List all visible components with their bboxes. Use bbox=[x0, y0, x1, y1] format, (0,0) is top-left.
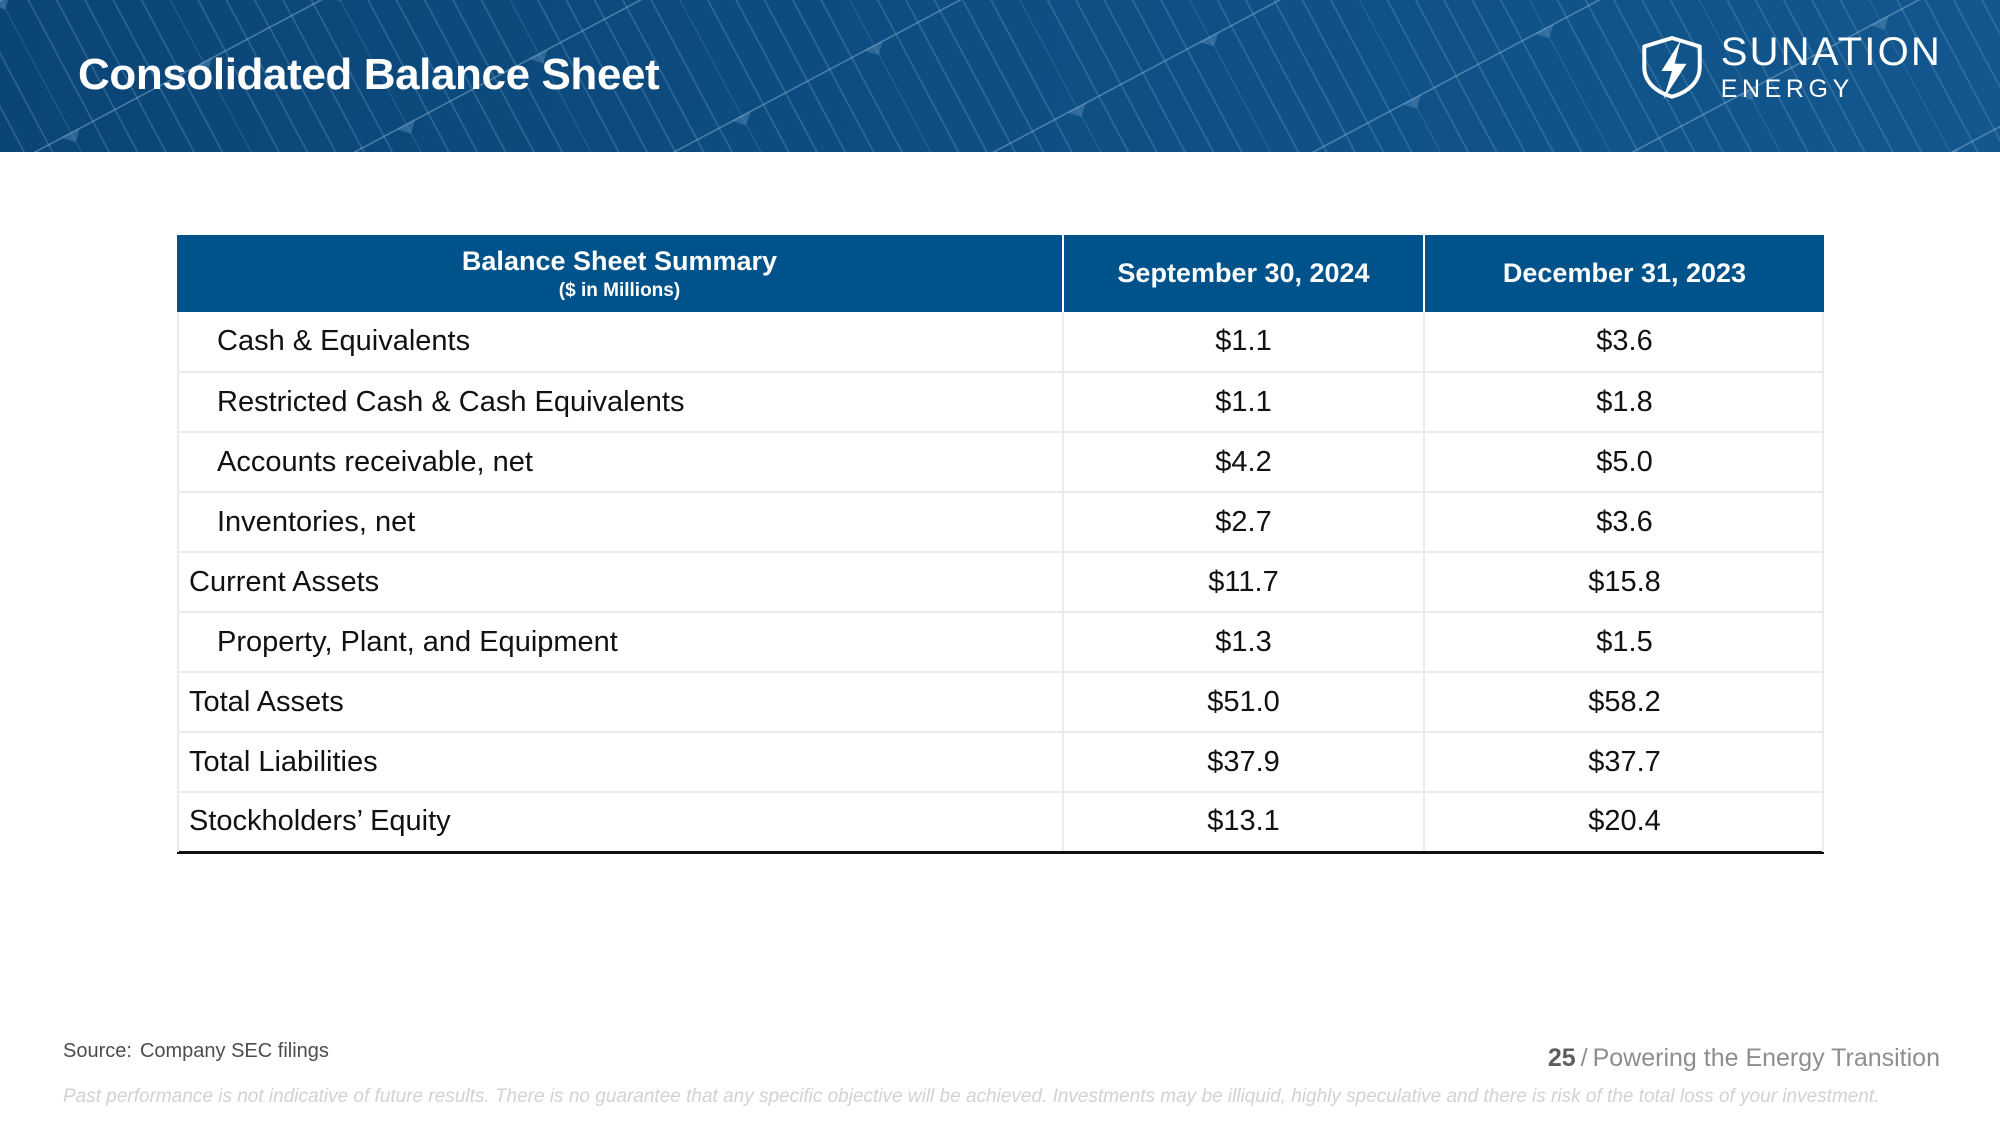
logo-word-energy: ENERGY bbox=[1721, 77, 1942, 102]
source-label: Source: bbox=[63, 1040, 132, 1062]
source-note: Source:Company SEC filings bbox=[63, 1040, 329, 1063]
table-row: Accounts receivable, net$4.2$5.0 bbox=[177, 432, 1824, 492]
row-label: Restricted Cash & Cash Equivalents bbox=[177, 372, 1063, 432]
row-value-period-2: $20.4 bbox=[1424, 792, 1824, 852]
row-value-period-2: $37.7 bbox=[1424, 732, 1824, 792]
logo-word-sunation: SUNATION bbox=[1721, 32, 1942, 72]
row-label: Accounts receivable, net bbox=[177, 432, 1063, 492]
row-value-period-1: $13.1 bbox=[1063, 792, 1424, 852]
row-value-period-2: $5.0 bbox=[1424, 432, 1824, 492]
row-value-period-1: $1.1 bbox=[1063, 372, 1424, 432]
column-header-period-2: December 31, 2023 bbox=[1424, 235, 1824, 312]
row-value-period-1: $11.7 bbox=[1063, 552, 1424, 612]
header-banner: Consolidated Balance Sheet SUNATION ENER… bbox=[0, 0, 2000, 152]
row-label: Total Assets bbox=[177, 672, 1063, 732]
page-separator: / bbox=[1581, 1044, 1588, 1072]
row-value-period-1: $1.1 bbox=[1063, 312, 1424, 372]
balance-sheet-table: Balance Sheet Summary ($ in Millions) Se… bbox=[177, 235, 1824, 854]
table-row: Current Assets$11.7$15.8 bbox=[177, 552, 1824, 612]
row-value-period-1: $37.9 bbox=[1063, 732, 1424, 792]
table-header-row: Balance Sheet Summary ($ in Millions) Se… bbox=[177, 235, 1824, 312]
table-row: Restricted Cash & Cash Equivalents$1.1$1… bbox=[177, 372, 1824, 432]
column-header-label: Balance Sheet Summary ($ in Millions) bbox=[177, 235, 1063, 312]
table-row: Total Assets$51.0$58.2 bbox=[177, 672, 1824, 732]
balance-sheet-table-container: Balance Sheet Summary ($ in Millions) Se… bbox=[177, 235, 1824, 854]
row-label: Total Liabilities bbox=[177, 732, 1063, 792]
table-body: Cash & Equivalents$1.1$3.6Restricted Cas… bbox=[177, 312, 1824, 852]
shield-lightning-icon bbox=[1639, 34, 1705, 100]
row-value-period-1: $51.0 bbox=[1063, 672, 1424, 732]
row-value-period-2: $1.5 bbox=[1424, 612, 1824, 672]
table-header: Balance Sheet Summary ($ in Millions) Se… bbox=[177, 235, 1824, 312]
row-value-period-2: $3.6 bbox=[1424, 312, 1824, 372]
row-label: Current Assets bbox=[177, 552, 1063, 612]
row-label: Inventories, net bbox=[177, 492, 1063, 552]
row-label: Stockholders’ Equity bbox=[177, 792, 1063, 852]
row-value-period-2: $58.2 bbox=[1424, 672, 1824, 732]
logo-wordmark: SUNATION ENERGY bbox=[1721, 32, 1942, 102]
sunation-energy-logo: SUNATION ENERGY bbox=[1639, 32, 1942, 102]
row-value-period-2: $3.6 bbox=[1424, 492, 1824, 552]
table-row: Property, Plant, and Equipment$1.3$1.5 bbox=[177, 612, 1824, 672]
row-value-period-2: $15.8 bbox=[1424, 552, 1824, 612]
row-label: Cash & Equivalents bbox=[177, 312, 1063, 372]
table-row: Inventories, net$2.7$3.6 bbox=[177, 492, 1824, 552]
row-value-period-2: $1.8 bbox=[1424, 372, 1824, 432]
column-header-label-sub: ($ in Millions) bbox=[187, 280, 1052, 302]
page-footer: 25/Powering the Energy Transition bbox=[1548, 1044, 1940, 1073]
row-value-period-1: $2.7 bbox=[1063, 492, 1424, 552]
page-tagline: Powering the Energy Transition bbox=[1593, 1044, 1940, 1072]
column-header-period-1: September 30, 2024 bbox=[1063, 235, 1424, 312]
table-row: Total Liabilities$37.9$37.7 bbox=[177, 732, 1824, 792]
row-value-period-1: $1.3 bbox=[1063, 612, 1424, 672]
legal-disclaimer: Past performance is not indicative of fu… bbox=[63, 1086, 1943, 1108]
row-value-period-1: $4.2 bbox=[1063, 432, 1424, 492]
table-row: Stockholders’ Equity$13.1$20.4 bbox=[177, 792, 1824, 852]
table-left-border bbox=[177, 312, 179, 852]
page-number: 25 bbox=[1548, 1044, 1576, 1072]
row-label: Property, Plant, and Equipment bbox=[177, 612, 1063, 672]
source-value: Company SEC filings bbox=[140, 1040, 329, 1062]
table-row: Cash & Equivalents$1.1$3.6 bbox=[177, 312, 1824, 372]
page-title: Consolidated Balance Sheet bbox=[78, 50, 659, 100]
table-right-border bbox=[1822, 312, 1824, 852]
column-header-label-main: Balance Sheet Summary bbox=[462, 246, 777, 276]
